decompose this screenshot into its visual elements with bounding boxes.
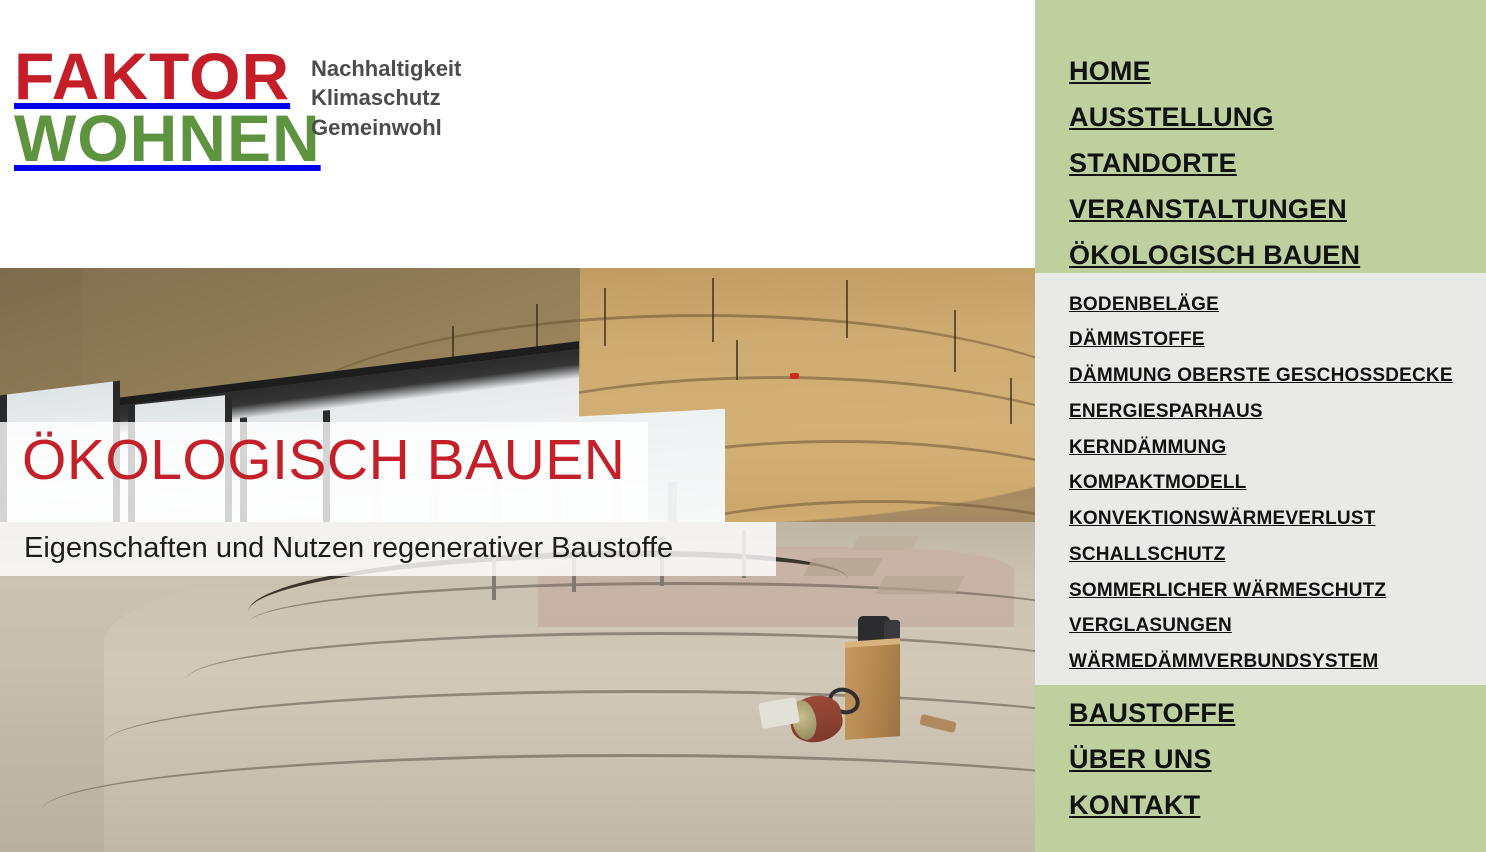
ceiling-wire-4: [712, 278, 714, 342]
submenu-item-energiesparhaus[interactable]: ENERGIESPARHAUS: [1069, 401, 1263, 423]
primary-nav-bottom: BAUSTOFFE ÜBER UNS KONTAKT: [1035, 685, 1486, 852]
floor-pad-3: [851, 536, 918, 550]
ceiling-red-marker: [790, 373, 799, 379]
submenu-item-bodenbelaege[interactable]: BODENBELÄGE: [1069, 294, 1219, 316]
hero-subtitle: Eigenschaften und Nutzen regenerativer B…: [24, 530, 673, 568]
submenu-item-verglasungen[interactable]: VERGLASUNGEN: [1069, 615, 1232, 637]
nav-item-ausstellung[interactable]: AUSSTELLUNG: [1069, 102, 1274, 133]
main-navigation-sidebar: HOME AUSSTELLUNG STANDORTE VERANSTALTUNG…: [1035, 0, 1486, 852]
submenu-item-schallschutz[interactable]: SCHALLSCHUTZ: [1069, 544, 1226, 566]
logo-tagline: Nachhaltigkeit Klimaschutz Gemeinwohl: [311, 54, 461, 142]
nav-item-oekologisch-bauen[interactable]: ÖKOLOGISCH BAUEN: [1069, 240, 1360, 271]
tagline-line-1: Nachhaltigkeit: [311, 54, 461, 83]
submenu-item-daemmung-oberste-geschossdecke[interactable]: DÄMMUNG OBERSTE GESCHOSSDECKE: [1069, 365, 1453, 387]
submenu-item-kerndaemmung[interactable]: KERNDÄMMUNG: [1069, 437, 1226, 459]
hero-banner: ÖKOLOGISCH BAUEN Eigenschaften und Nutze…: [0, 268, 1035, 852]
floor-pad-1: [803, 558, 883, 576]
nav-item-baustoffe[interactable]: BAUSTOFFE: [1069, 698, 1235, 729]
site-header: FAKTOR WOHNEN Nachhaltigkeit Klimaschutz…: [0, 0, 1035, 268]
submenu-item-kompaktmodell[interactable]: KOMPAKTMODELL: [1069, 472, 1246, 494]
ceiling-wire-5: [736, 340, 738, 380]
submenu-item-sommerlicher-waermeschutz[interactable]: SOMMERLICHER WÄRMESCHUTZ: [1069, 580, 1386, 602]
page-root: FAKTOR WOHNEN Nachhaltigkeit Klimaschutz…: [0, 0, 1486, 852]
site-logo[interactable]: FAKTOR WOHNEN: [14, 46, 321, 169]
nav-item-ueber-uns[interactable]: ÜBER UNS: [1069, 744, 1212, 775]
primary-nav-top: HOME AUSSTELLUNG STANDORTE VERANSTALTUNG…: [1035, 0, 1486, 273]
nav-item-veranstaltungen[interactable]: VERANSTALTUNGEN: [1069, 194, 1347, 225]
nav-item-kontakt[interactable]: KONTAKT: [1069, 790, 1200, 821]
nav-item-standorte[interactable]: STANDORTE: [1069, 148, 1237, 179]
left-content-column: FAKTOR WOHNEN Nachhaltigkeit Klimaschutz…: [0, 0, 1035, 852]
submenu-item-waermedaemmverbundsystem[interactable]: WÄRMEDÄMMVERBUNDSYSTEM: [1069, 651, 1378, 673]
ceiling-wire-7: [954, 310, 956, 372]
ceiling-wire-6: [846, 280, 848, 338]
logo-word-wohnen: WOHNEN: [14, 107, 321, 169]
ceiling-wire-8: [1010, 378, 1012, 424]
tagline-line-3: Gemeinwohl: [311, 113, 461, 142]
hero-title: ÖKOLOGISCH BAUEN: [22, 432, 625, 489]
submenu-oekologisch-bauen: BODENBELÄGE DÄMMSTOFFE DÄMMUNG OBERSTE G…: [1035, 273, 1486, 685]
tagline-line-2: Klimaschutz: [311, 83, 461, 112]
logo-word-faktor: FAKTOR: [14, 46, 321, 107]
submenu-item-konvektionswaermeverlust[interactable]: KONVEKTIONSWÄRMEVERLUST: [1069, 508, 1376, 530]
nav-item-home[interactable]: HOME: [1069, 56, 1151, 87]
ceiling-wire-3: [604, 288, 606, 346]
floor-pad-2: [875, 576, 965, 594]
submenu-item-daemmstoffe[interactable]: DÄMMSTOFFE: [1069, 329, 1205, 351]
